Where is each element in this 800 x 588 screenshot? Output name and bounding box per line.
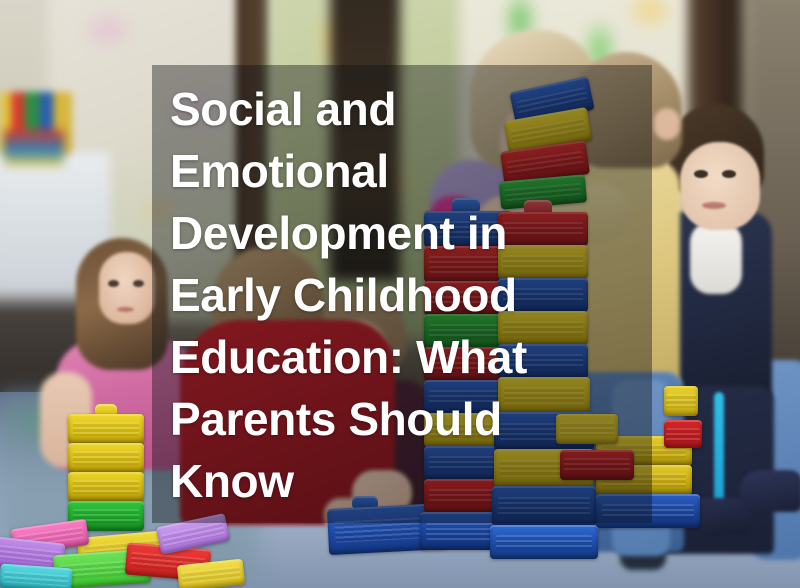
boy-yellow-ear	[654, 108, 680, 140]
girl-left-face	[99, 252, 155, 324]
block-yellow	[68, 414, 144, 444]
boy-right-pant-stripe	[714, 392, 724, 512]
article-hero-banner: Social and Emotional Development in Earl…	[0, 0, 800, 588]
block-yellow	[68, 472, 144, 502]
boy-right-eye-right	[722, 170, 736, 178]
block-red	[664, 420, 702, 448]
shelf-toy-blocks	[4, 130, 64, 166]
boy-right-mouth	[702, 202, 726, 209]
block-yellow	[68, 443, 144, 473]
boy-right-eye-left	[694, 170, 708, 178]
page-title: Social and Emotional Development in Earl…	[170, 78, 570, 512]
girl-left-eye-right	[133, 280, 144, 287]
boy-right-face	[680, 142, 760, 230]
girl-left-mouth	[117, 307, 134, 312]
foam-block-teal	[0, 564, 73, 588]
block-blue	[490, 525, 598, 559]
boy-right-shirt-front	[690, 222, 742, 294]
girl-left-eye-left	[108, 280, 119, 287]
block-yellow	[664, 386, 698, 416]
background-child-shoe	[740, 470, 800, 512]
